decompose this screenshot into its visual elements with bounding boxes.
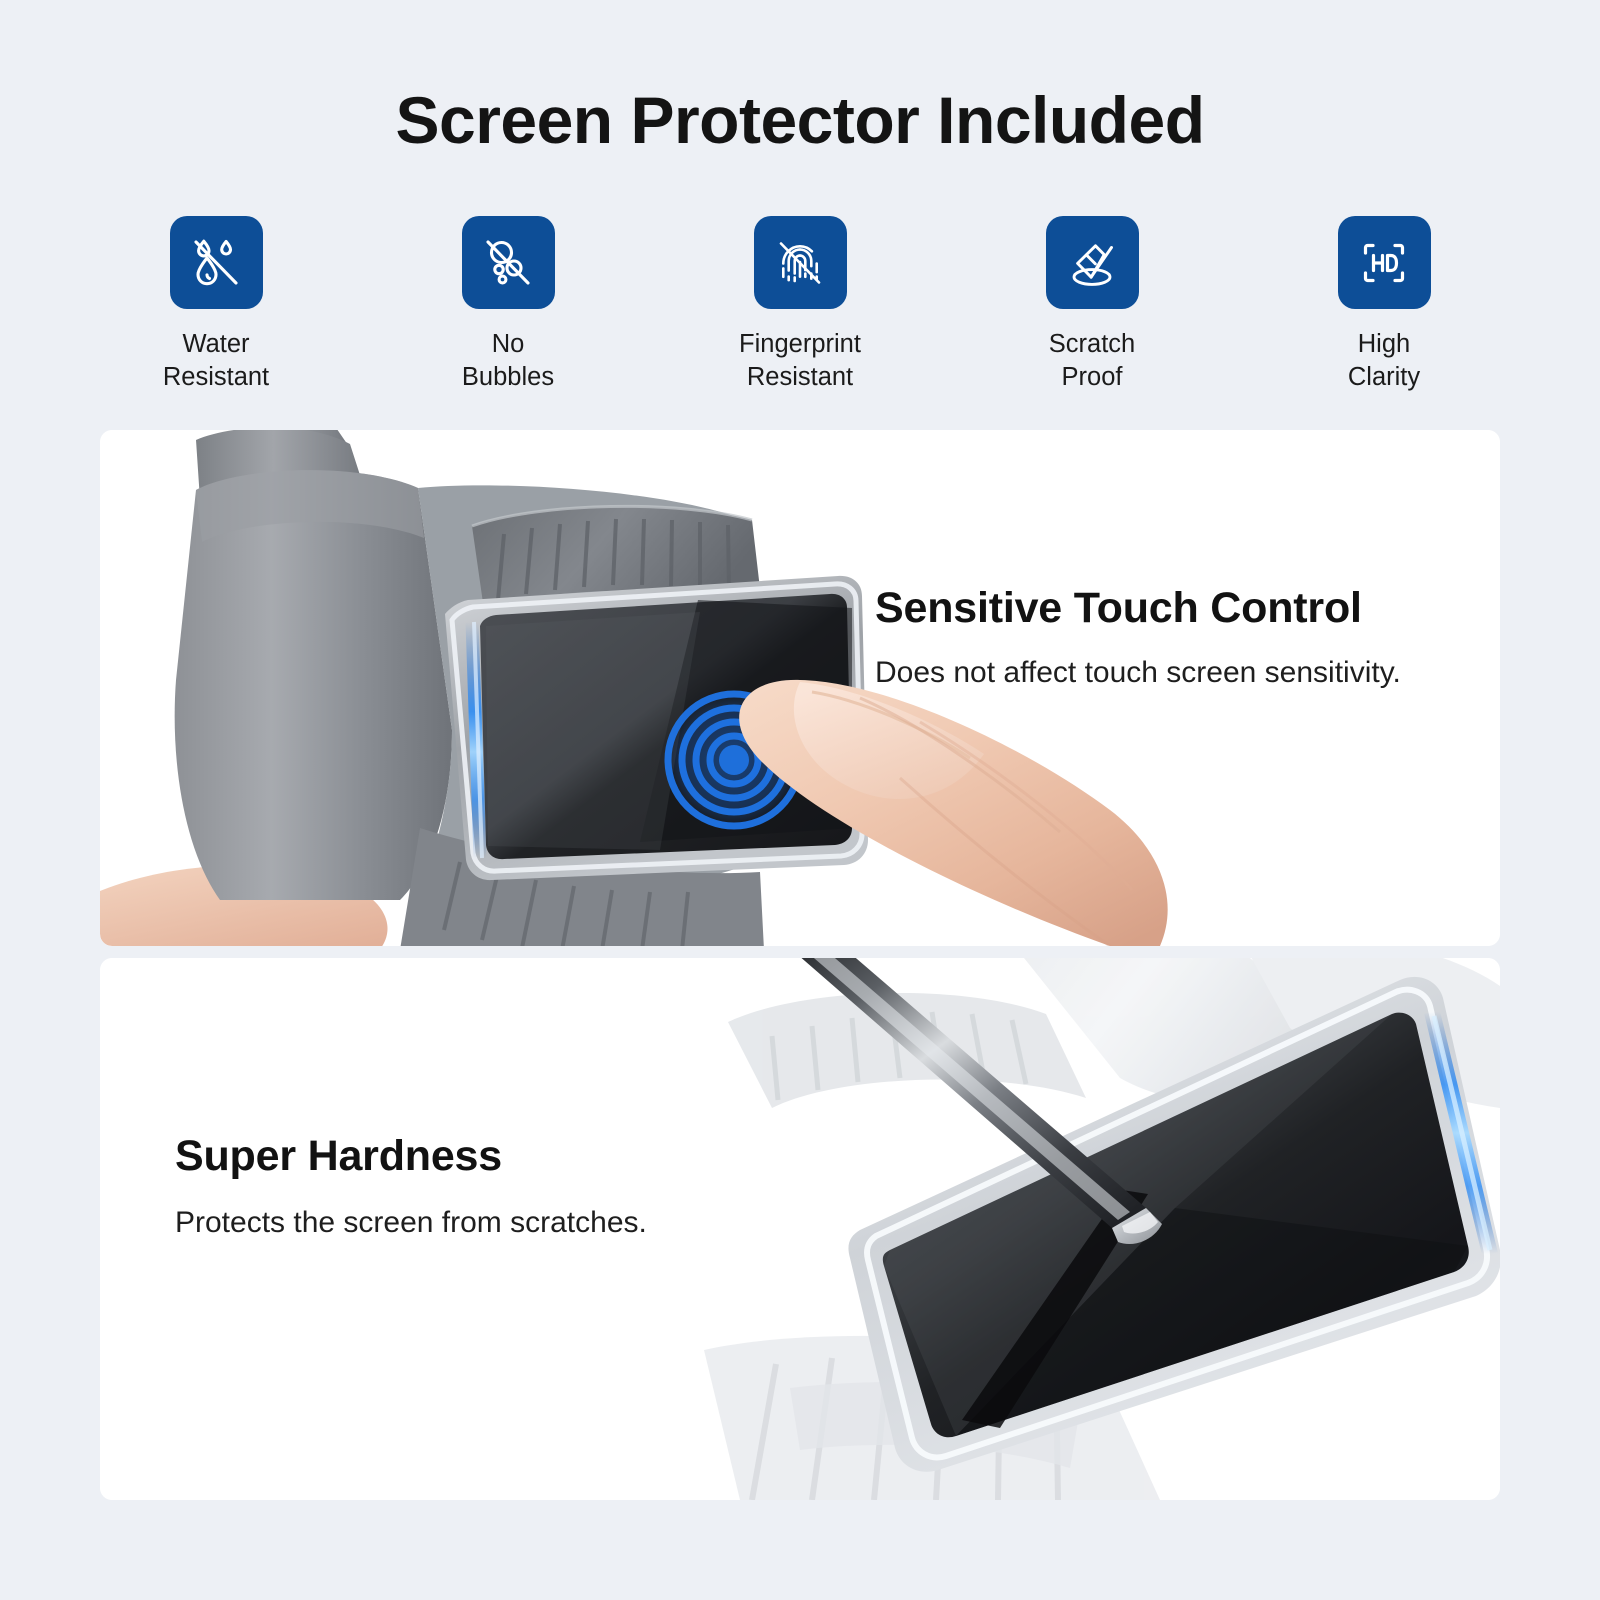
feature-tile-high-clarity [1338, 216, 1431, 309]
card-sensitive-touch: Sensitive Touch Control Does not affect … [100, 430, 1500, 946]
feature-item-water-resistant: Water Resistant [141, 216, 291, 394]
feature-tile-water-resistant [170, 216, 263, 309]
super-hardness-subtext: Protects the screen from scratches. [175, 1204, 647, 1242]
feature-tile-fingerprint-resistant [754, 216, 847, 309]
super-hardness-heading: Super Hardness [175, 1133, 647, 1180]
feature-tile-scratch-proof [1046, 216, 1139, 309]
sensitive-touch-text-block: Sensitive Touch Control Does not affect … [875, 585, 1401, 692]
feature-label-no-bubbles: No Bubbles [462, 328, 554, 394]
super-hardness-text-block: Super Hardness Protects the screen from … [175, 1133, 647, 1242]
feature-label-fingerprint-resistant: Fingerprint Resistant [739, 328, 861, 394]
sensitive-touch-heading: Sensitive Touch Control [875, 585, 1401, 632]
card-super-hardness: Super Hardness Protects the screen from … [100, 958, 1500, 1500]
page-title: Screen Protector Included [0, 86, 1600, 155]
fingerprint-slash-icon [769, 232, 831, 294]
sensitive-touch-subtext: Does not affect touch screen sensitivity… [875, 654, 1401, 692]
water-drop-slash-icon [185, 232, 247, 294]
hd-focus-frame-icon [1353, 232, 1415, 294]
bubbles-slash-icon [477, 232, 539, 294]
feature-item-no-bubbles: No Bubbles [433, 216, 583, 394]
feature-item-scratch-proof: Scratch Proof [1017, 216, 1167, 394]
feature-item-high-clarity: High Clarity [1309, 216, 1459, 394]
feature-label-water-resistant: Water Resistant [163, 328, 269, 394]
feature-tile-no-bubbles [462, 216, 555, 309]
feature-label-scratch-proof: Scratch Proof [1049, 328, 1135, 394]
feature-badge-row: Water Resistant No Bubbles [100, 216, 1500, 394]
feature-label-high-clarity: High Clarity [1348, 328, 1420, 394]
feature-item-fingerprint-resistant: Fingerprint Resistant [725, 216, 875, 394]
blade-on-surface-icon [1061, 232, 1123, 294]
